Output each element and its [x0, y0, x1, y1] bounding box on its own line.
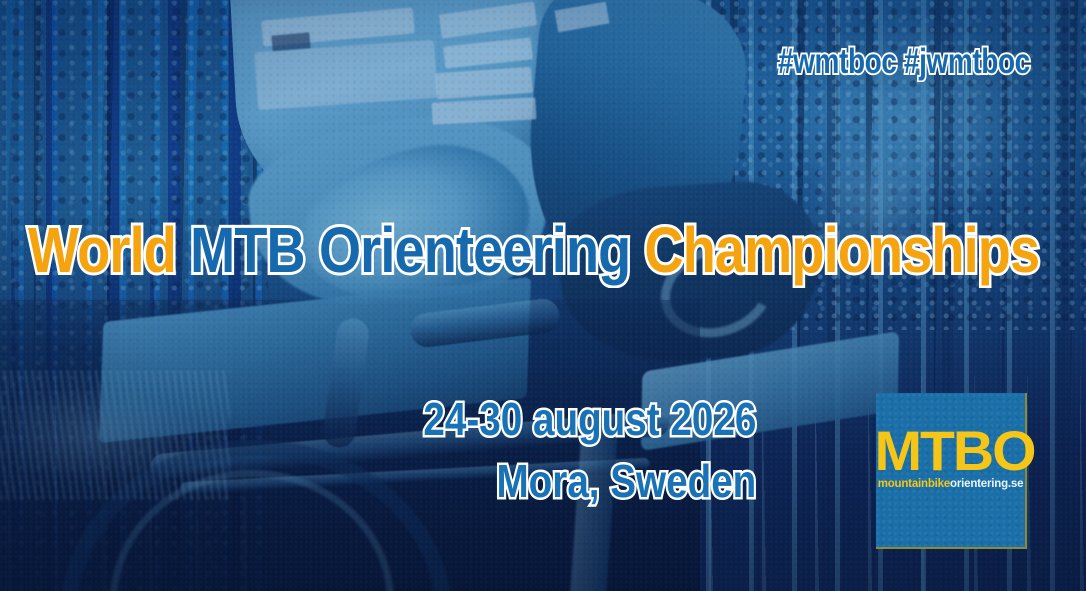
poster-canvas: #wmtboc #jwmtboc World MTB Orienteering …	[0, 0, 1086, 591]
logo-tagline-part1: mountainbike	[878, 478, 950, 490]
mtbo-logo-wordmark: MTBO	[875, 423, 1027, 479]
title-space-2	[630, 214, 644, 286]
event-date: 24-30 august 2026	[423, 396, 756, 442]
title-part-world: World	[28, 214, 176, 286]
mtbo-logo-tagline: mountainbikeorientering.se	[876, 479, 1025, 491]
title-space-1	[176, 214, 190, 286]
title-part-championships: Championships	[645, 214, 1040, 286]
event-location: Mora, Sweden	[496, 458, 756, 504]
page-title: World MTB Orienteering Championships	[28, 218, 1039, 282]
title-part-mtb-orienteering: MTB Orienteering	[190, 214, 630, 286]
logo-tagline-part2: orientering.se	[950, 478, 1023, 490]
mtbo-logo[interactable]: MTBO mountainbikeorientering.se	[876, 393, 1025, 547]
hashtags-text: #wmtboc #jwmtboc	[778, 42, 1030, 82]
